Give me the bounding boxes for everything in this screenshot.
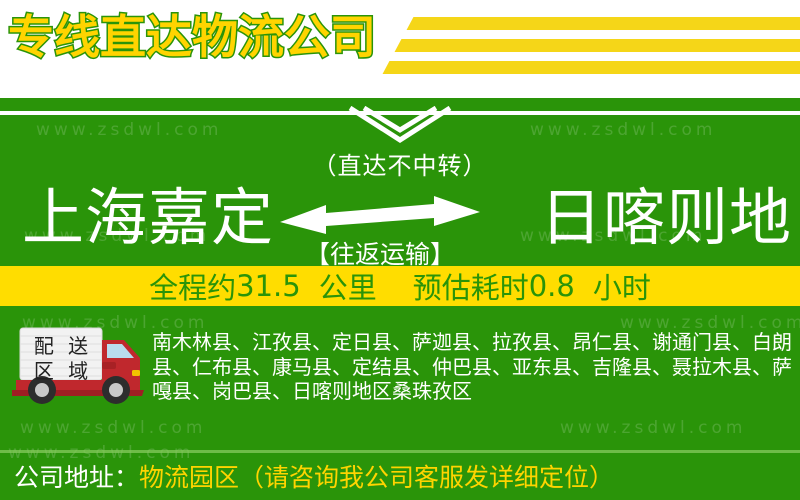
decorative-stripe-1 [407, 17, 800, 30]
route-origin: 上海嘉定 [22, 178, 274, 258]
decorative-stripe-2 [395, 39, 800, 52]
decorative-stripe-3 [383, 61, 800, 74]
delivery-area-text: 南木林县、江孜县、定日县、萨迦县、拉孜县、昂仁县、谢通门县、白朗县、仁布县、康马… [152, 330, 792, 404]
subtitle-direct-no-transfer: （直达不中转） [0, 146, 800, 181]
distance-unit: 公里 [319, 265, 377, 307]
logistics-banner: 专线直达物流公司 www.zsdwl.com www.zsdwl.com www… [0, 0, 800, 500]
duration-unit: 小时 [593, 265, 651, 307]
watermark: www.zsdwl.com [560, 418, 746, 438]
route-destination: 日喀则地 [540, 178, 792, 258]
address-label: 公司地址： [14, 463, 139, 492]
footer-divider [0, 450, 800, 453]
chevron-down-icon [348, 106, 452, 146]
double-arrow-icon [280, 196, 480, 238]
duration-prefix: 预估耗时 [413, 265, 529, 307]
watermark: www.zsdwl.com [36, 120, 222, 140]
address-value: 物流园区（请咨询我公司客服发详细定位） [139, 463, 614, 492]
stats-band: 全程约 31.5 公里 预估耗时 0.8 小时 [0, 266, 800, 306]
distance-prefix: 全程约 [149, 265, 236, 307]
distance-value: 31.5 [236, 269, 301, 303]
truck-label-line1: 配 送 [27, 334, 99, 359]
truck-label: 配 送 区 域 [27, 334, 99, 384]
duration-value: 0.8 [529, 269, 575, 303]
route-row: 上海嘉定 【往返运输】 日喀则地 [0, 178, 800, 266]
footer-address: 公司地址：物流园区（请咨询我公司客服发详细定位） [14, 458, 614, 498]
banner-body: www.zsdwl.com www.zsdwl.com www.zsdwl.co… [0, 98, 800, 500]
company-title: 专线直达物流公司 [8, 8, 376, 66]
truck-label-line2: 区 域 [27, 359, 99, 384]
banner-header: 专线直达物流公司 [0, 0, 800, 98]
watermark: www.zsdwl.com [530, 120, 716, 140]
watermark: www.zsdwl.com [20, 418, 206, 438]
